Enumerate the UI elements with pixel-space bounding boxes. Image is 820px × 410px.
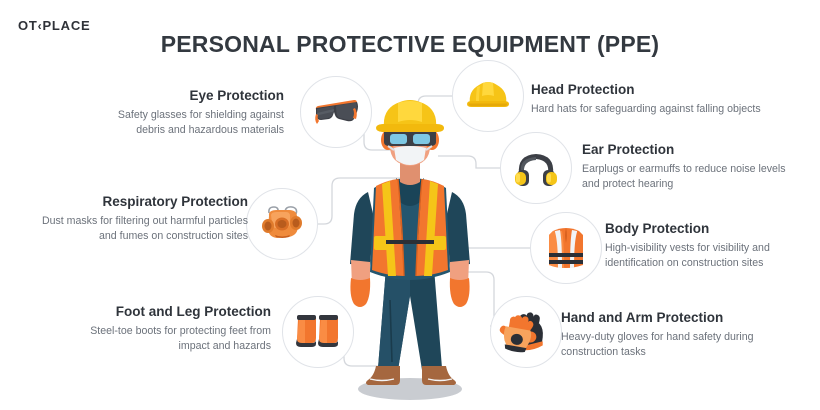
title-foot: Foot and Leg Protection xyxy=(74,304,271,321)
sleeve-right xyxy=(446,192,470,266)
title-hand: Hand and Arm Protection xyxy=(561,310,796,327)
title-eye: Eye Protection xyxy=(88,88,284,105)
icon-circle-respiratory[interactable] xyxy=(246,188,318,260)
boot-right xyxy=(422,366,456,385)
text-block-ear: Ear Protection Earplugs or earmuffs to r… xyxy=(582,142,787,192)
worker-illustration xyxy=(330,100,490,400)
glove-left xyxy=(350,278,370,307)
icon-circle-ear[interactable] xyxy=(500,132,572,204)
desc-body: High-visibility vests for visibility and… xyxy=(605,241,800,271)
title-ear: Ear Protection xyxy=(582,142,787,159)
text-block-head: Head Protection Hard hats for safeguardi… xyxy=(531,82,820,117)
text-block-body: Body Protection High-visibility vests fo… xyxy=(605,221,800,271)
hard-hat-brim xyxy=(376,124,444,132)
title-head: Head Protection xyxy=(531,82,820,99)
icon-circle-body[interactable] xyxy=(530,212,602,284)
desc-eye: Safety glasses for shielding against deb… xyxy=(88,108,284,138)
desc-foot: Steel-toe boots for protecting feet from… xyxy=(74,324,271,354)
desc-ear: Earplugs or earmuffs to reduce noise lev… xyxy=(582,162,787,192)
boot-left xyxy=(366,366,400,385)
safety-vest-icon xyxy=(541,223,591,273)
desc-head: Hard hats for safeguarding against falli… xyxy=(531,102,820,117)
sleeve-left xyxy=(350,192,374,266)
goggles-lens-right xyxy=(413,134,430,144)
text-block-foot: Foot and Leg Protection Steel-toe boots … xyxy=(74,304,271,354)
goggles-lens-left xyxy=(390,134,407,144)
title-body: Body Protection xyxy=(605,221,800,238)
icon-circle-hand[interactable] xyxy=(490,296,562,368)
ear-muffs-icon xyxy=(510,142,562,194)
vest-strap xyxy=(386,240,434,244)
desc-respiratory: Dust masks for filtering out harmful par… xyxy=(34,214,248,244)
glove-right xyxy=(450,278,470,307)
respirator-mask-icon xyxy=(255,197,309,251)
text-block-respiratory: Respiratory Protection Dust masks for fi… xyxy=(34,194,248,244)
text-block-eye: Eye Protection Safety glasses for shield… xyxy=(88,88,284,138)
text-block-hand: Hand and Arm Protection Heavy-duty glove… xyxy=(561,310,796,360)
title-respiratory: Respiratory Protection xyxy=(34,194,248,211)
construction-worker-figure xyxy=(330,100,490,400)
desc-hand: Heavy-duty gloves for hand safety during… xyxy=(561,330,796,360)
work-gloves-icon xyxy=(499,305,553,359)
